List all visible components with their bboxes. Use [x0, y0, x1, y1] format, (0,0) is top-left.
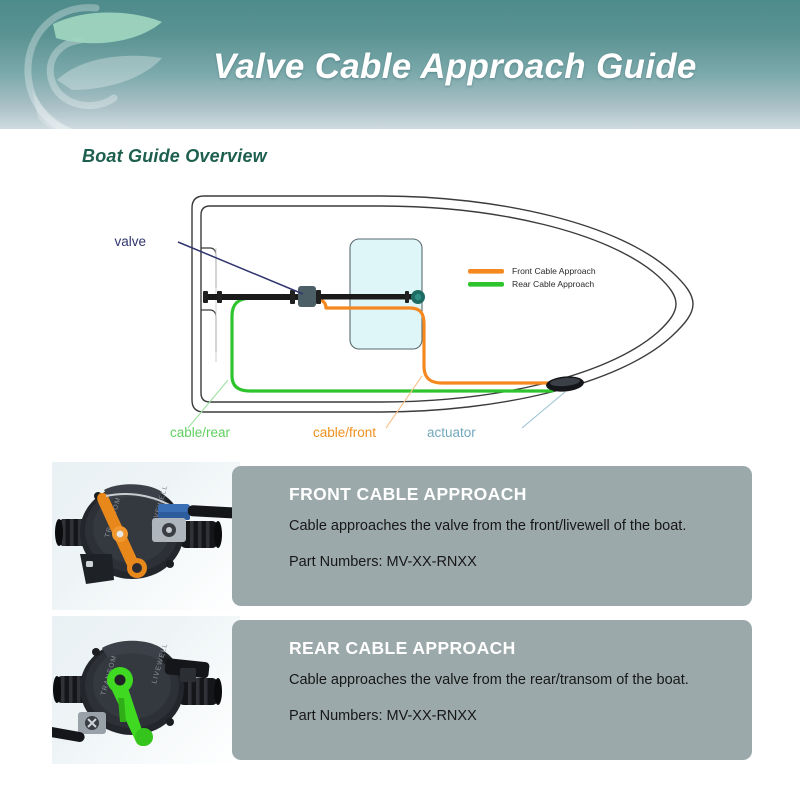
cable-and-clamp — [52, 712, 106, 743]
valve-front-approach-photo: TRANSOM LIVEWELL — [52, 462, 240, 610]
leaf-swoosh-logo — [10, 0, 225, 129]
card-body-front: FRONT CABLE APPROACH Cable approaches th… — [232, 466, 752, 606]
card-description: Cable approaches the valve from the rear… — [289, 672, 689, 688]
card-body-rear: REAR CABLE APPROACH Cable approaches the… — [232, 620, 752, 760]
rear-leader-line — [188, 380, 228, 428]
approach-card-front[interactable]: TRANSOM LIVEWELL — [52, 462, 752, 610]
svg-text:Front Cable Approach: Front Cable Approach — [512, 266, 596, 276]
hose-barb-right — [180, 521, 222, 548]
section-heading: Boat Guide Overview — [82, 146, 267, 167]
callout-label-valve: valve — [114, 234, 146, 249]
hose-barb-right — [178, 678, 222, 705]
callout-label-actuator: actuator — [427, 425, 476, 440]
valve-leader-line — [178, 242, 303, 294]
card-title: FRONT CABLE APPROACH — [289, 484, 527, 505]
boat-hull-outline — [192, 196, 693, 412]
svg-text:Rear Cable Approach: Rear Cable Approach — [512, 279, 594, 289]
valve-rear-approach-photo: TRANSOM LIVEWELL — [52, 616, 240, 764]
boat-guide-overview-diagram: Front Cable Approach Rear Cable Approach… — [60, 180, 740, 440]
front-cable-route — [308, 298, 552, 383]
page-title: Valve Cable Approach Guide — [213, 47, 697, 87]
card-part-numbers: Part Numbers: MV-XX-RNXX — [289, 708, 477, 724]
card-title: REAR CABLE APPROACH — [289, 638, 516, 659]
callout-label-front: cable/front — [313, 425, 376, 440]
card-description: Cable approaches the valve from the fron… — [289, 518, 686, 534]
callout-label-rear: cable/rear — [170, 425, 231, 440]
diagram-legend: Front Cable Approach Rear Cable Approach — [468, 266, 596, 289]
card-part-numbers: Part Numbers: MV-XX-RNXX — [289, 554, 477, 570]
approach-card-rear[interactable]: TRANSOM LIVEWELL — [52, 616, 752, 764]
page-header: Valve Cable Approach Guide — [0, 0, 800, 129]
